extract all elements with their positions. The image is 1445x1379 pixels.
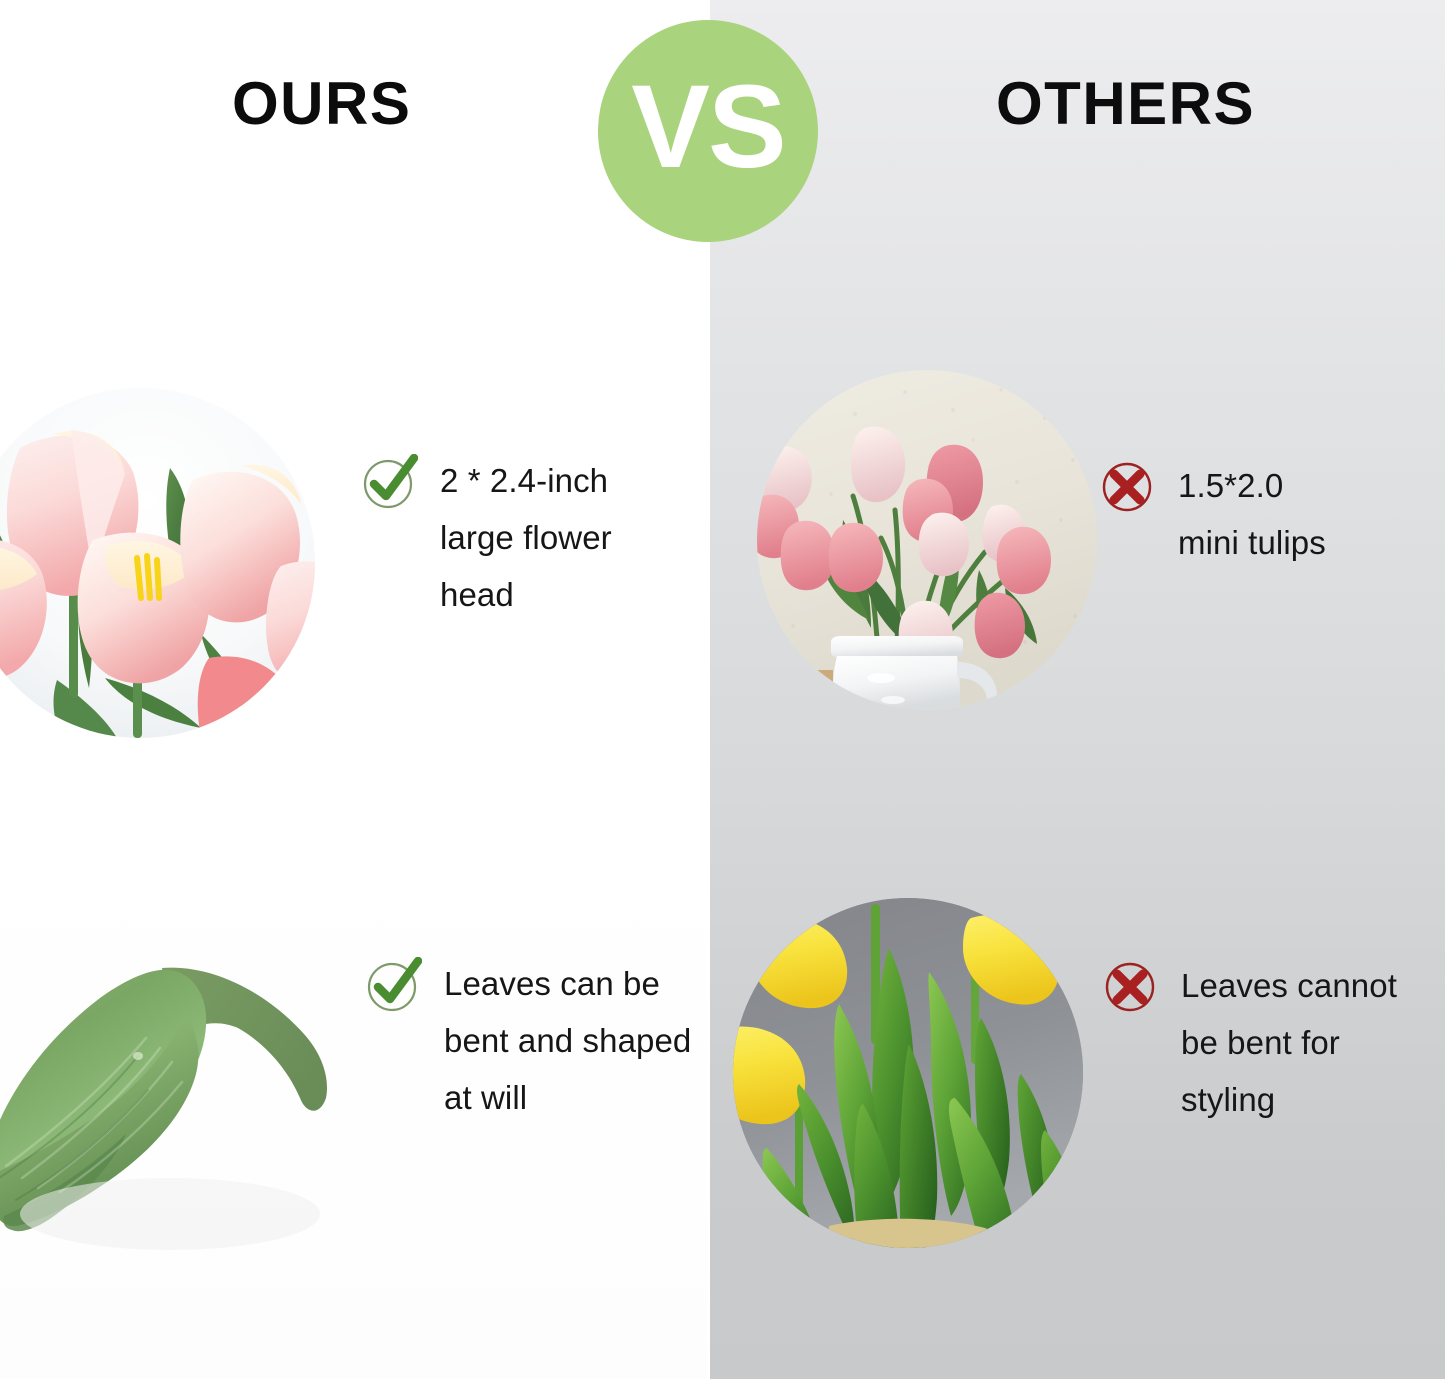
others-feature-1: 1.5*2.0 mini tulips (1100, 457, 1430, 571)
others-feature-1-line-1: 1.5*2.0 (1178, 457, 1326, 514)
ours-feature-1-line-1: 2 * 2.4-inch (440, 452, 612, 509)
ours-feature-2-line-1: Leaves can be (444, 955, 691, 1012)
ours-feature-1: 2 * 2.4-inch large flower head (362, 452, 692, 623)
cross-circle-icon (1100, 459, 1156, 515)
ours-feature-1-line-2: large flower (440, 509, 612, 566)
ours-title: OURS (232, 72, 411, 136)
others-feature-1-line-2: mini tulips (1178, 514, 1326, 571)
ours-feature-2-text: Leaves can be bent and shaped at will (444, 955, 691, 1126)
others-title: OTHERS (996, 72, 1255, 136)
ours-feature-2-line-3: at will (444, 1069, 691, 1126)
others-feature-2-line-2: be bent for (1181, 1014, 1397, 1071)
bent-green-leaf-photo (0, 930, 350, 1260)
check-circle-icon (366, 957, 422, 1013)
others-feature-2-line-1: Leaves cannot (1181, 957, 1397, 1014)
check-circle-icon (362, 454, 418, 510)
comparison-infographic: OURS OTHERS VS (0, 0, 1445, 1379)
ours-feature-2: Leaves can be bent and shaped at will (366, 955, 701, 1126)
ours-feature-2-line-2: bent and shaped (444, 1012, 691, 1069)
ours-feature-1-text: 2 * 2.4-inch large flower head (440, 452, 612, 623)
ours-feature-1-line-3: head (440, 566, 612, 623)
others-feature-2: Leaves cannot be bent for styling (1103, 957, 1443, 1128)
vs-badge: VS (598, 20, 818, 242)
others-feature-2-text: Leaves cannot be bent for styling (1181, 957, 1397, 1128)
mini-pink-tulips-in-white-pitcher-photo (757, 370, 1097, 710)
yellow-tulips-stiff-leaves-photo (733, 898, 1083, 1248)
others-feature-2-line-3: styling (1181, 1071, 1397, 1128)
cross-circle-icon (1103, 959, 1159, 1015)
vs-badge-label: VS (631, 68, 784, 186)
others-feature-1-text: 1.5*2.0 mini tulips (1178, 457, 1326, 571)
